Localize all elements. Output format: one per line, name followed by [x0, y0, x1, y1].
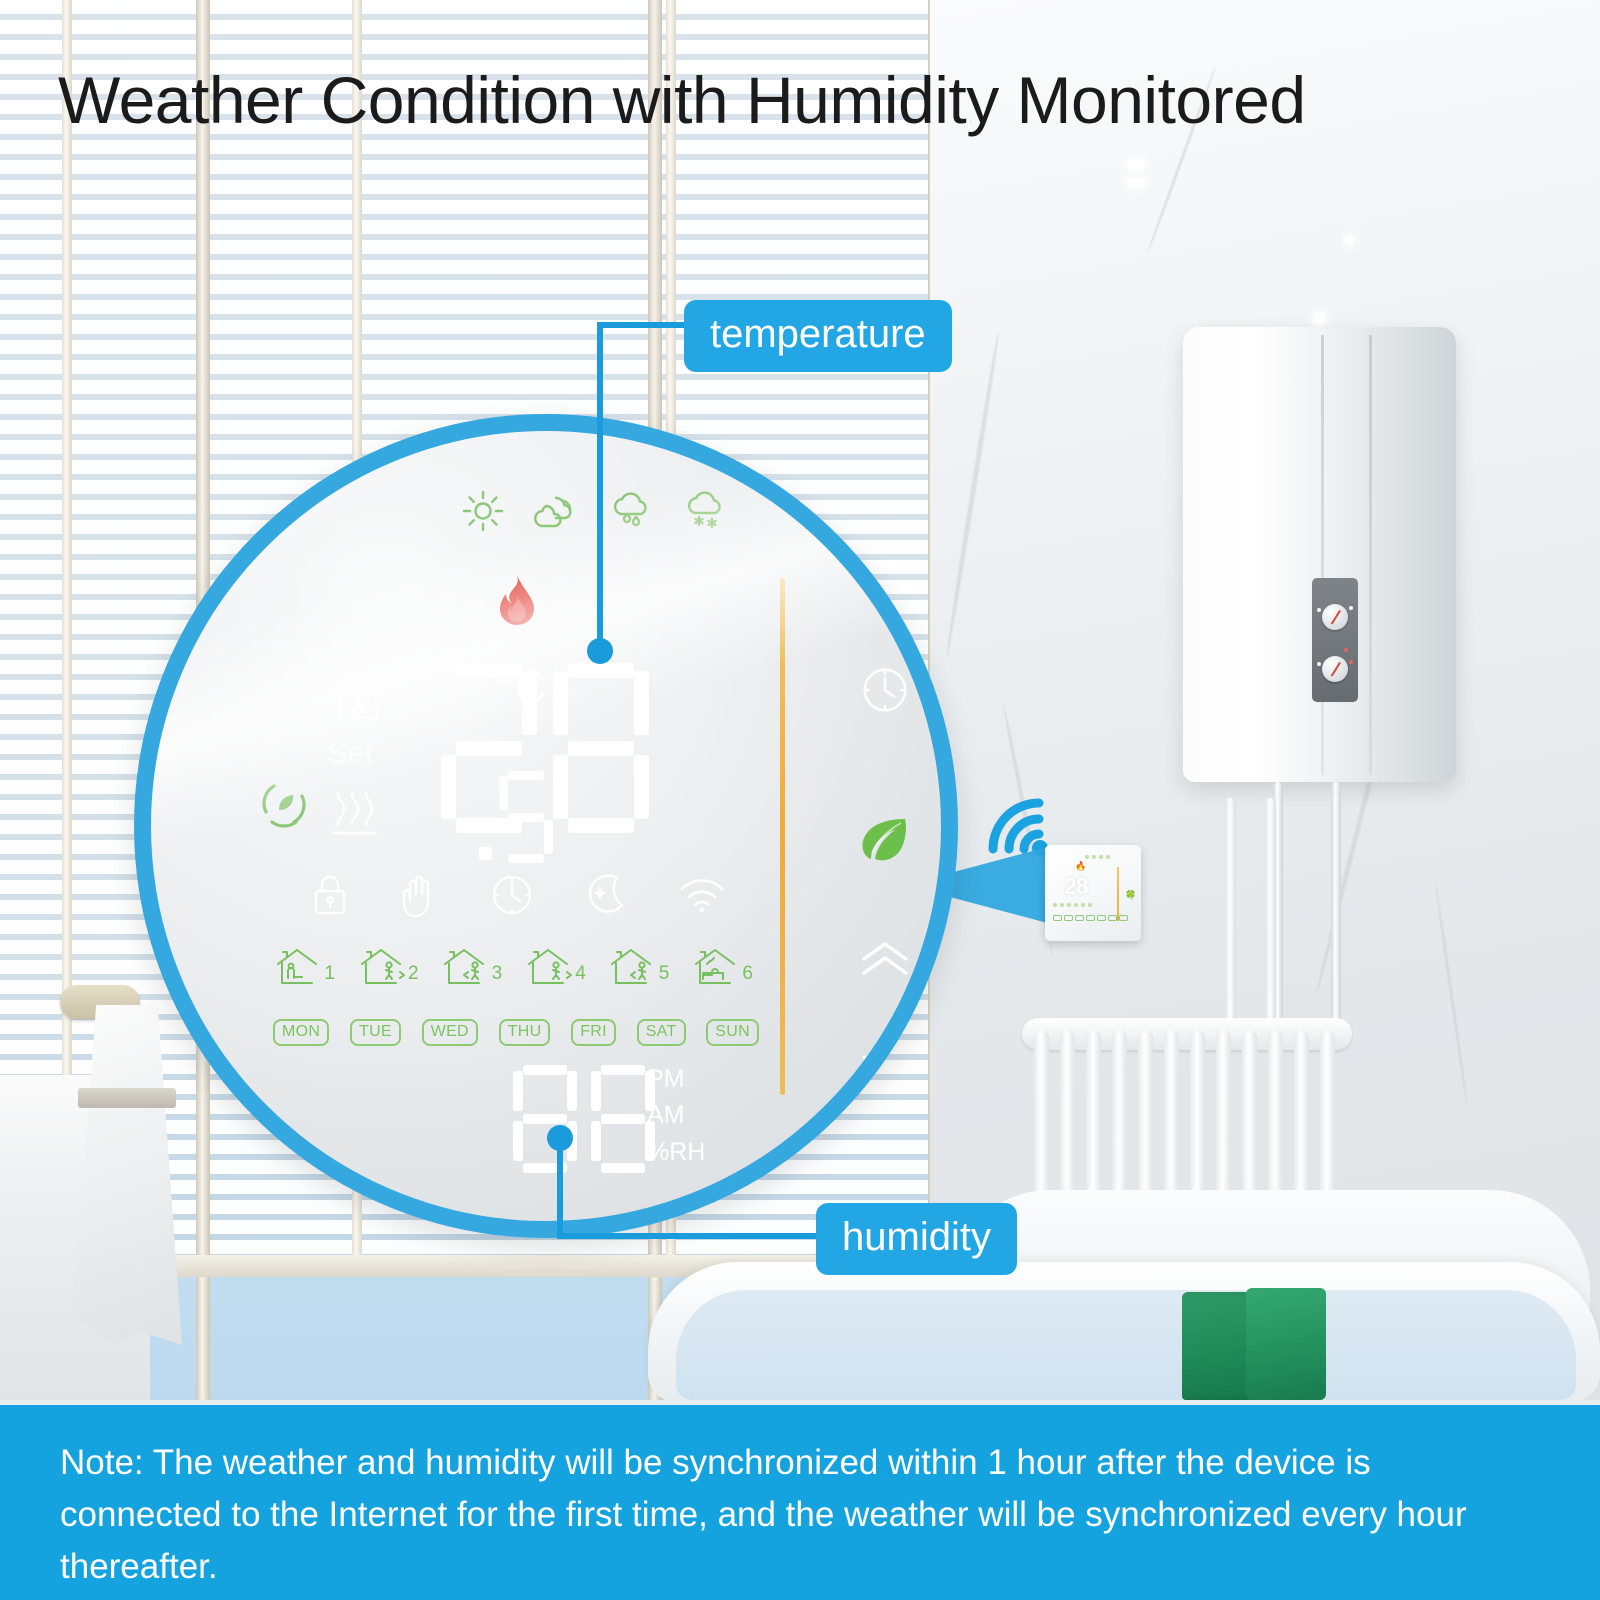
humidity-callout-line-v	[557, 1137, 563, 1239]
temperature-decimal	[479, 771, 553, 863]
snow-icon	[681, 489, 731, 538]
sunny-icon	[461, 489, 505, 538]
celsius-unit-label: °C	[497, 663, 546, 713]
mini-leaf-icon: 🍀	[1125, 890, 1136, 901]
temperature-callout-dot	[587, 638, 613, 664]
bathtub-interior	[676, 1290, 1576, 1400]
mini-orange-bar	[1117, 867, 1119, 921]
orange-divider-bar	[780, 578, 785, 1095]
label-pm: PM	[647, 1061, 705, 1097]
ceiling-light-2	[1345, 236, 1354, 245]
humidity-digit-2	[591, 1065, 655, 1173]
schedule-period-4[interactable]: 4	[526, 946, 588, 992]
schedule-number-1: 1	[324, 963, 335, 985]
ceiling-light-3	[1127, 160, 1145, 169]
eco-leaf-circle-icon	[256, 776, 312, 837]
page-title: Weather Condition with Humidity Monitore…	[58, 62, 1478, 139]
schedule-period-3[interactable]: 3	[442, 946, 504, 992]
note-bar: Note: The weather and humidity will be s…	[0, 1405, 1600, 1600]
status-icon-row	[311, 871, 726, 924]
hand-manual-icon	[397, 872, 439, 923]
heater-dial-top[interactable]	[1322, 604, 1348, 630]
weather-icon-row	[461, 489, 731, 538]
schedule-number-2: 2	[408, 963, 419, 985]
flame-icon	[495, 574, 539, 634]
leaf-icon	[858, 816, 908, 867]
ceiling-light-4	[1127, 178, 1145, 187]
green-towel-right	[1246, 1288, 1326, 1400]
day-thu[interactable]: THU	[499, 1019, 551, 1046]
mini-day-row	[1053, 915, 1128, 921]
thermostat-zoom-circle: Set	[134, 414, 958, 1238]
schedule-period-6[interactable]: 6	[693, 946, 755, 992]
chevron-up-icon[interactable]	[858, 939, 912, 984]
cloudy-icon	[532, 491, 582, 536]
rain-icon	[608, 489, 654, 538]
day-of-week-row: MON TUE WED THU FRI SAT SUN	[273, 1019, 759, 1046]
heater-pipe-right	[1331, 782, 1341, 1032]
mini-temperature-value: 28	[1064, 873, 1088, 900]
ceiling-light-1	[1313, 312, 1326, 325]
schedule-period-2[interactable]: 2	[359, 946, 421, 992]
lock-icon	[311, 873, 349, 922]
humidity-callout-dot	[547, 1125, 573, 1151]
schedule-number-6: 6	[742, 963, 753, 985]
schedule-number-3: 3	[492, 963, 503, 985]
temperature-callout-line-v	[597, 328, 603, 653]
heater-dial-bottom[interactable]	[1322, 656, 1348, 682]
clock-icon	[488, 871, 536, 924]
wifi-icon	[678, 875, 726, 920]
day-sun[interactable]: SUN	[706, 1019, 759, 1046]
decimal-point	[479, 847, 492, 860]
schedule-period-row: 1 2 3	[275, 946, 755, 992]
temperature-callout-badge: temperature	[684, 300, 952, 372]
schedule-period-5[interactable]: 5	[609, 946, 671, 992]
floor-heating-icon	[326, 781, 384, 846]
day-mon[interactable]: MON	[273, 1019, 329, 1046]
temp-digit-2	[553, 663, 649, 833]
schedule-number-4: 4	[575, 963, 586, 985]
clock-icon-right	[858, 663, 912, 722]
humidity-unit-labels: PM AM %RH	[647, 1061, 705, 1170]
mini-humidity-value: 88	[1079, 925, 1093, 937]
humidity-callout-badge: humidity	[816, 1203, 1017, 1275]
humidity-display	[513, 1065, 669, 1173]
temp-decimal-digit	[499, 771, 553, 863]
temperature-callout-line-h	[597, 322, 692, 328]
label-am: AM	[647, 1097, 705, 1133]
water-heater-control-panel[interactable]	[1312, 578, 1358, 702]
house-thermometer-icon	[329, 668, 387, 731]
temperature-display	[441, 663, 665, 833]
schedule-number-5: 5	[659, 963, 670, 985]
day-wed[interactable]: WED	[422, 1019, 478, 1046]
chevron-down-icon[interactable]	[858, 1051, 912, 1096]
mini-flame-icon: 🔥	[1075, 861, 1086, 872]
thermostat-face: Set	[151, 431, 941, 1221]
set-label: Set	[327, 737, 374, 771]
humidity-digit-1	[513, 1065, 577, 1173]
day-sat[interactable]: SAT	[637, 1019, 686, 1046]
schedule-period-1[interactable]: 1	[275, 946, 337, 992]
day-tue[interactable]: TUE	[350, 1019, 401, 1046]
wall-thermostat-device[interactable]: 🔥 28 🍀 88	[1045, 845, 1141, 941]
water-heater	[1183, 327, 1456, 782]
humidity-callout-line-h	[557, 1233, 822, 1239]
label-rh: %RH	[647, 1134, 705, 1170]
moon-night-icon	[584, 872, 630, 923]
day-fri[interactable]: FRI	[571, 1019, 616, 1046]
